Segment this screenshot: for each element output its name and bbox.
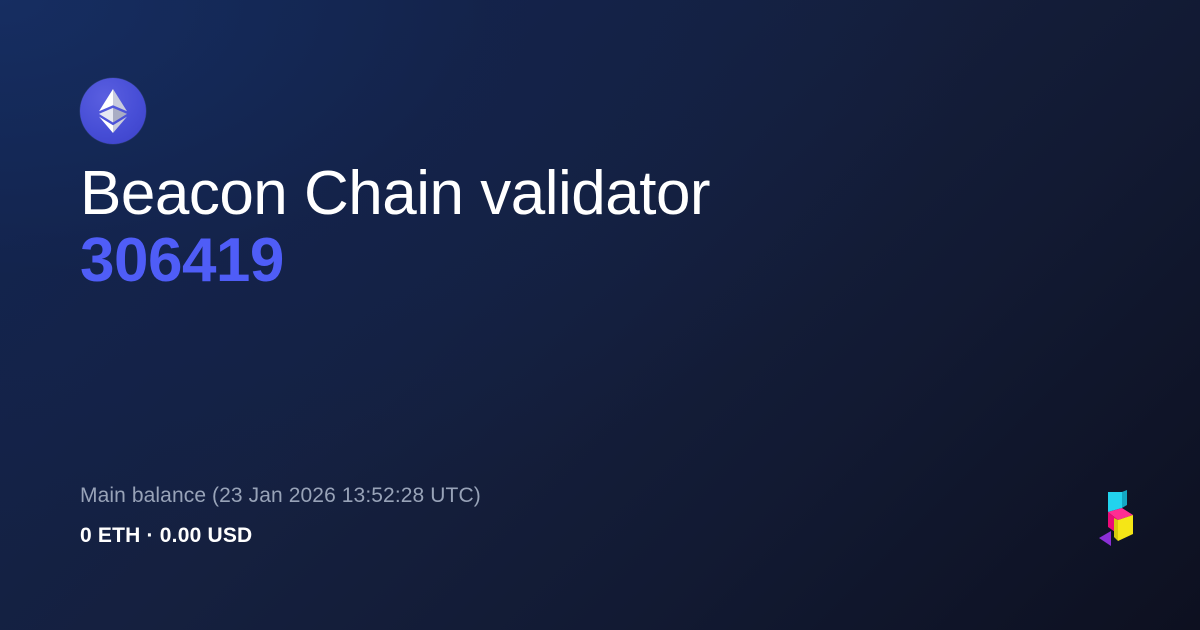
beaconchain-logo-icon — [1094, 490, 1138, 550]
og-card: Beacon Chain validator 306419 Main balan… — [0, 0, 1200, 630]
page-title-text: Beacon Chain validator — [80, 162, 1080, 226]
balance-block: Main balance (23 Jan 2026 13:52:28 UTC) … — [80, 484, 481, 548]
ethereum-icon — [80, 78, 146, 144]
header-block: Beacon Chain validator 306419 — [80, 78, 1080, 295]
validator-index: 306419 — [80, 228, 1080, 295]
balance-label: Main balance (23 Jan 2026 13:52:28 UTC) — [80, 484, 481, 508]
balance-value: 0 ETH · 0.00 USD — [80, 524, 481, 548]
page-title: Beacon Chain validator 306419 — [80, 162, 1080, 295]
